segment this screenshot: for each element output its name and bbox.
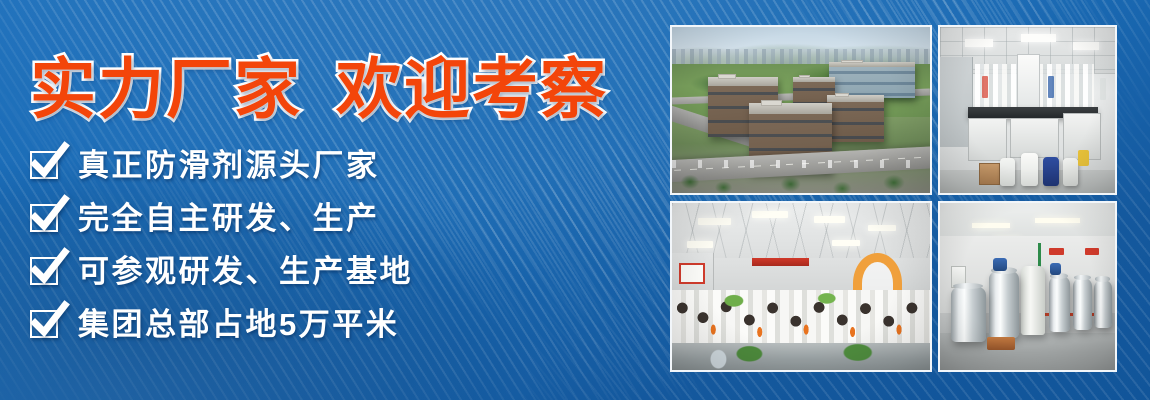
mixing-tank <box>1049 276 1070 331</box>
wooden-pallet <box>987 337 1015 350</box>
red-wall-sign <box>1049 248 1065 255</box>
ceiling-light <box>1073 42 1099 50</box>
photo-scene <box>672 203 930 370</box>
staff-group-photo <box>670 201 932 372</box>
ceiling-light <box>965 39 993 47</box>
mixing-tank <box>1073 278 1092 330</box>
lab-cabinet <box>1010 118 1059 158</box>
stainless-steel-tank-large <box>951 287 986 342</box>
list-item-label: 集团总部占地5万平米 <box>78 309 399 340</box>
ceiling-light-strip <box>972 223 1011 228</box>
headline-part-1: 实力厂家 <box>30 36 302 132</box>
production-workshop-photo <box>938 201 1117 372</box>
list-item: 真正防滑剂源头厂家 <box>30 140 630 190</box>
checkbox-checked-icon <box>30 254 64 288</box>
red-wall-sign <box>1085 248 1099 255</box>
mixing-tank <box>1094 280 1112 328</box>
headline-part-2: 欢迎考察 <box>336 36 608 132</box>
tank-motor <box>993 258 1007 271</box>
photo-scene <box>940 203 1115 370</box>
laboratory-photo <box>938 25 1117 195</box>
checkbox-checked-icon <box>30 307 64 341</box>
ceiling-light <box>868 225 896 232</box>
chemical-drum <box>1021 153 1039 186</box>
ceiling-light <box>814 216 845 223</box>
tree-row <box>672 156 930 193</box>
ceiling-light <box>832 240 860 247</box>
photo-grid <box>670 25 1117 372</box>
ceiling-light <box>1021 34 1056 42</box>
red-wall-banner <box>752 258 809 266</box>
list-item-label: 真正防滑剂源头厂家 <box>78 150 380 181</box>
list-item: 集团总部占地5万平米 <box>30 299 630 349</box>
chemical-drum-blue <box>1043 157 1059 187</box>
checkbox-checked-icon <box>30 201 64 235</box>
ceiling-light-strip <box>1035 218 1081 223</box>
cardboard-box <box>979 163 1000 185</box>
feature-bullet-list: 真正防滑剂源头厂家 完全自主研发、生产 可参观研发、 <box>30 140 630 352</box>
ceiling-light <box>698 218 732 225</box>
reactor-vessel <box>1021 266 1046 334</box>
stainless-steel-tank <box>989 271 1019 338</box>
list-item-label: 完全自主研发、生产 <box>78 203 380 234</box>
photo-scene <box>672 27 930 193</box>
chemical-drum <box>1063 158 1079 186</box>
yellow-container <box>1078 150 1089 167</box>
list-item: 可参观研发、生产基地 <box>30 246 630 296</box>
foreground-desks <box>672 343 930 370</box>
employee-crowd <box>672 290 930 350</box>
banner-headline: 实力厂家 欢迎考察 <box>30 40 640 128</box>
list-item-label: 可参观研发、生产基地 <box>78 256 413 287</box>
checkbox-checked-icon <box>30 148 64 182</box>
ceiling-light <box>687 241 713 248</box>
photo-scene <box>940 27 1115 193</box>
lab-cabinet <box>968 118 1007 161</box>
tank-motor <box>1050 263 1061 275</box>
list-item: 完全自主研发、生产 <box>30 193 630 243</box>
banner-copy-block: 实力厂家 欢迎考察 真正防滑剂源头厂家 <box>0 0 660 400</box>
fume-hood <box>1017 54 1040 110</box>
factory-campus-aerial-photo <box>670 25 932 195</box>
ceiling-light <box>752 211 788 218</box>
office-building-right <box>827 95 884 141</box>
chemical-drum <box>1000 158 1016 186</box>
promo-banner: 实力厂家 欢迎考察 真正防滑剂源头厂家 <box>0 0 1150 400</box>
